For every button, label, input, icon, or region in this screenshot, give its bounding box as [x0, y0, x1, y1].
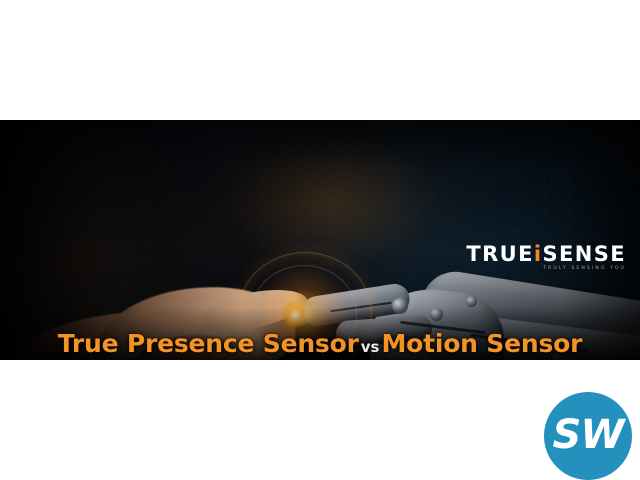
sw-watermark-badge[interactable]: SW: [544, 392, 632, 480]
headline-part-one: True Presence Sensor: [58, 329, 359, 358]
brand-logo-prefix: TRUE: [466, 242, 534, 266]
page-canvas: TRUEiSENSE Truly Sensing You True Presen…: [0, 0, 640, 480]
brand-logo: TRUEiSENSE Truly Sensing You: [466, 244, 626, 272]
brand-logo-tagline: Truly Sensing You: [466, 267, 626, 272]
brand-logo-suffix: SENSE: [542, 242, 626, 266]
article-banner-image: TRUEiSENSE Truly Sensing You True Presen…: [0, 120, 640, 360]
robot-joint-shape: [430, 308, 443, 321]
banner-text-block: True Presence SensorvsMotion Sensor Whic…: [0, 330, 640, 360]
touch-glow-core: [282, 302, 308, 328]
headline-part-two: Motion Sensor: [381, 329, 582, 358]
robot-joint-shape: [466, 296, 477, 307]
headline-connector: vs: [359, 338, 382, 356]
brand-logo-wordmark: TRUEiSENSE: [466, 244, 626, 265]
banner-headline: True Presence SensorvsMotion Sensor: [0, 330, 640, 358]
sw-watermark-label: SW: [544, 412, 632, 458]
robot-joint-shape: [392, 298, 408, 314]
